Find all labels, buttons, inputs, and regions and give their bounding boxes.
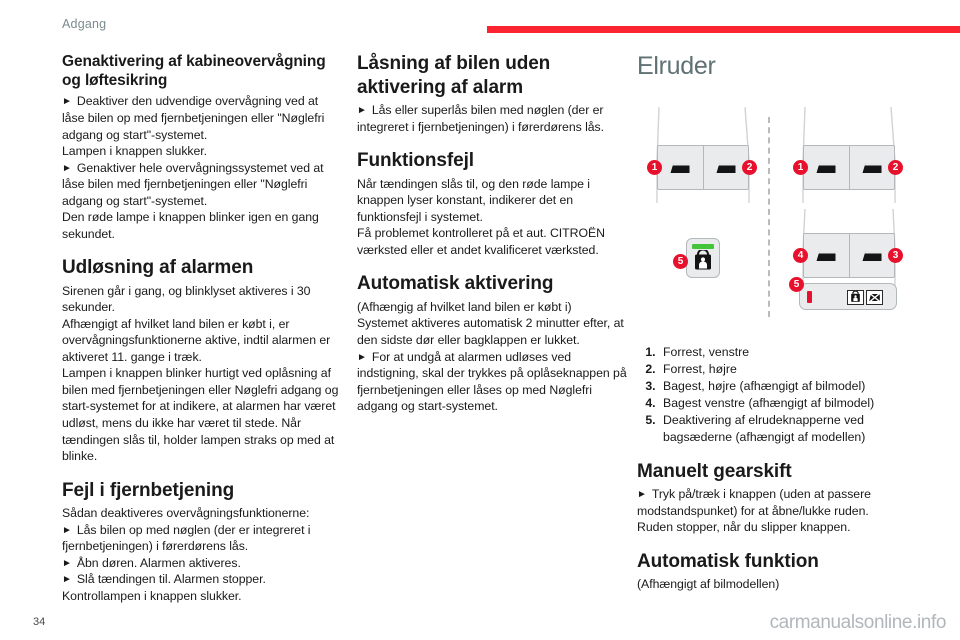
paragraph-text: Lås bilen op med nøglen (der er integrer… (62, 523, 310, 554)
paragraph: Systemet aktiveres automatisk 2 minutter… (357, 315, 635, 348)
section-heading-reactivation: Genaktivering af kabineovervågning og lø… (62, 52, 340, 90)
callout-badge-4-right: 4 (793, 248, 808, 263)
paragraph-text: Lås eller superlås bilen med nøglen (der… (357, 103, 604, 134)
paragraph: ►Slå tændingen til. Alarmen stopper. (62, 571, 340, 588)
diagram-legend-list: Forrest, venstre Forrest, højre Bagest, … (637, 344, 927, 446)
rear-window-lockout-button[interactable] (686, 238, 720, 278)
section-heading-remote-fault: Fejl i fjernbetjening (62, 479, 340, 503)
content-column-3: Elruder (637, 52, 927, 593)
content-column-1: Genaktivering af kabineovervågning og lø… (62, 52, 340, 604)
callout-badge-2-right: 2 (888, 160, 903, 175)
heading-line-1: Låsning af bilen uden (357, 53, 550, 74)
bullet-arrow-icon: ► (62, 96, 77, 107)
section-heading-lock-without-alarm: Låsning af bilen uden aktivering af alar… (357, 52, 635, 99)
paragraph-text: Genaktiver hele overvågningssystemet ved… (62, 161, 324, 208)
paragraph-text: Tryk på/træk i knappen (uden at passere … (637, 487, 871, 518)
window-switch-rear-left[interactable] (804, 234, 850, 277)
child-lock-icon (691, 250, 715, 274)
bullet-arrow-icon: ► (62, 163, 77, 174)
manual-page: Adgang Genaktivering af kabineovervågnin… (0, 0, 960, 640)
bullet-arrow-icon: ► (62, 525, 77, 536)
paragraph: ►Genaktiver hele overvågningssystemet ve… (62, 160, 340, 210)
heading-line-2: aktivering af alarm (357, 77, 523, 98)
list-item: Bagest venstre (afhængigt af bilmodel) (659, 395, 927, 412)
paragraph-text: Deaktiver den udvendige overvågning ved … (62, 94, 324, 141)
page-number: 34 (33, 616, 45, 628)
paragraph: ►Tryk på/træk i knappen (uden at passere… (637, 486, 927, 519)
paragraph: Den røde lampe i knappen blinker igen en… (62, 209, 340, 242)
window-lockout-mini-button[interactable] (866, 290, 883, 305)
window-switch-front-left[interactable] (804, 146, 850, 189)
heading-line-1: Genaktivering af kabineovervågning (62, 53, 326, 70)
bullet-arrow-icon: ► (357, 105, 372, 116)
page-header: Adgang (0, 0, 960, 46)
list-item: Forrest, højre (659, 361, 927, 378)
callout-badge-1-right: 1 (793, 160, 808, 175)
callout-badge-1-left: 1 (647, 160, 662, 175)
section-heading-malfunction: Funktionsfejl (357, 149, 635, 173)
callout-badge-5-right: 5 (789, 277, 804, 292)
window-glass-icon (814, 247, 839, 265)
right-front-window-switch-block[interactable] (803, 145, 895, 190)
callout-badge-3-right: 3 (888, 248, 903, 263)
chapter-tab-label: Adgang (62, 17, 106, 31)
paragraph: Få problemet kontrolleret på et aut. CIT… (357, 225, 635, 258)
paragraph-text: For at undgå at alarmen udløses ved inds… (357, 350, 627, 414)
paragraph: Ruden stopper, når du slipper knappen. (637, 519, 927, 536)
paragraph: Sirenen går i gang, og blinklyset aktive… (62, 283, 340, 316)
rear-lockout-control-panel[interactable] (799, 283, 897, 310)
paragraph: ►Åbn døren. Alarmen aktiveres. (62, 555, 340, 572)
list-item: Bagest, højre (afhængigt af bilmodel) (659, 378, 927, 395)
red-led-indicator (807, 291, 812, 303)
paragraph: Lampen i knappen slukker. (62, 143, 340, 160)
watermark-label: carmanualsonline.info (770, 612, 946, 634)
paragraph: ►For at undgå at alarmen udløses ved ind… (357, 349, 635, 415)
callout-badge-2-left: 2 (742, 160, 757, 175)
electric-windows-diagram: 1 2 5 (637, 91, 927, 336)
heading-line-2: og løftesikring (62, 72, 167, 89)
paragraph: (Afhængigt af bilmodellen) (637, 576, 927, 593)
paragraph: (Afhængig af hvilket land bilen er købt … (357, 299, 635, 316)
child-lock-mini-button[interactable] (847, 290, 864, 305)
section-heading-automatic-operation: Automatisk funktion (637, 550, 927, 574)
bullet-arrow-icon: ► (62, 574, 77, 585)
paragraph: ►Lås eller superlås bilen med nøglen (de… (357, 102, 635, 135)
window-glass-icon (859, 159, 884, 177)
window-disabled-icon (867, 291, 882, 304)
list-item: Deaktivering af elrudeknapperne ved bags… (659, 412, 927, 445)
window-glass-icon (668, 159, 693, 177)
paragraph: Når tændingen slås til, og den røde lamp… (357, 176, 635, 226)
bullet-arrow-icon: ► (637, 489, 652, 500)
paragraph-text: Åbn døren. Alarmen aktiveres. (77, 556, 241, 570)
paragraph: ►Deaktiver den udvendige overvågning ved… (62, 93, 340, 143)
paragraph: ►Lås bilen op med nøglen (der er integre… (62, 522, 340, 555)
window-glass-icon (814, 159, 839, 177)
diagram-divider (768, 117, 770, 317)
paragraph: Lampen i knappen blinker hurtigt ved opl… (62, 365, 340, 464)
child-lock-icon (848, 291, 863, 304)
section-heading-alarm-trigger: Udløsning af alarmen (62, 256, 340, 280)
content-column-2: Låsning af bilen uden aktivering af alar… (357, 52, 635, 415)
bullet-arrow-icon: ► (62, 558, 77, 569)
green-led-indicator (692, 244, 714, 249)
page-footer: 34 carmanualsonline.info (0, 600, 960, 640)
right-rear-window-switch-block[interactable] (803, 233, 895, 278)
window-glass-icon (859, 247, 884, 265)
paragraph: Sådan deaktiveres overvågningsfunktioner… (62, 505, 340, 522)
list-item: Forrest, venstre (659, 344, 927, 361)
paragraph-text: Slå tændingen til. Alarmen stopper. (77, 572, 266, 586)
window-switch-front-left[interactable] (658, 146, 704, 189)
window-glass-icon (713, 159, 738, 177)
left-front-window-switch-block[interactable] (657, 145, 749, 190)
page-title: Elruder (637, 52, 927, 81)
bullet-arrow-icon: ► (357, 352, 372, 363)
callout-badge-5-left: 5 (673, 254, 688, 269)
paragraph: Afhængigt af hvilket land bilen er købt … (62, 316, 340, 366)
header-red-rule (487, 26, 960, 33)
section-heading-manual-operation: Manuelt gearskift (637, 460, 927, 484)
section-heading-auto-activation: Automatisk aktivering (357, 272, 635, 296)
